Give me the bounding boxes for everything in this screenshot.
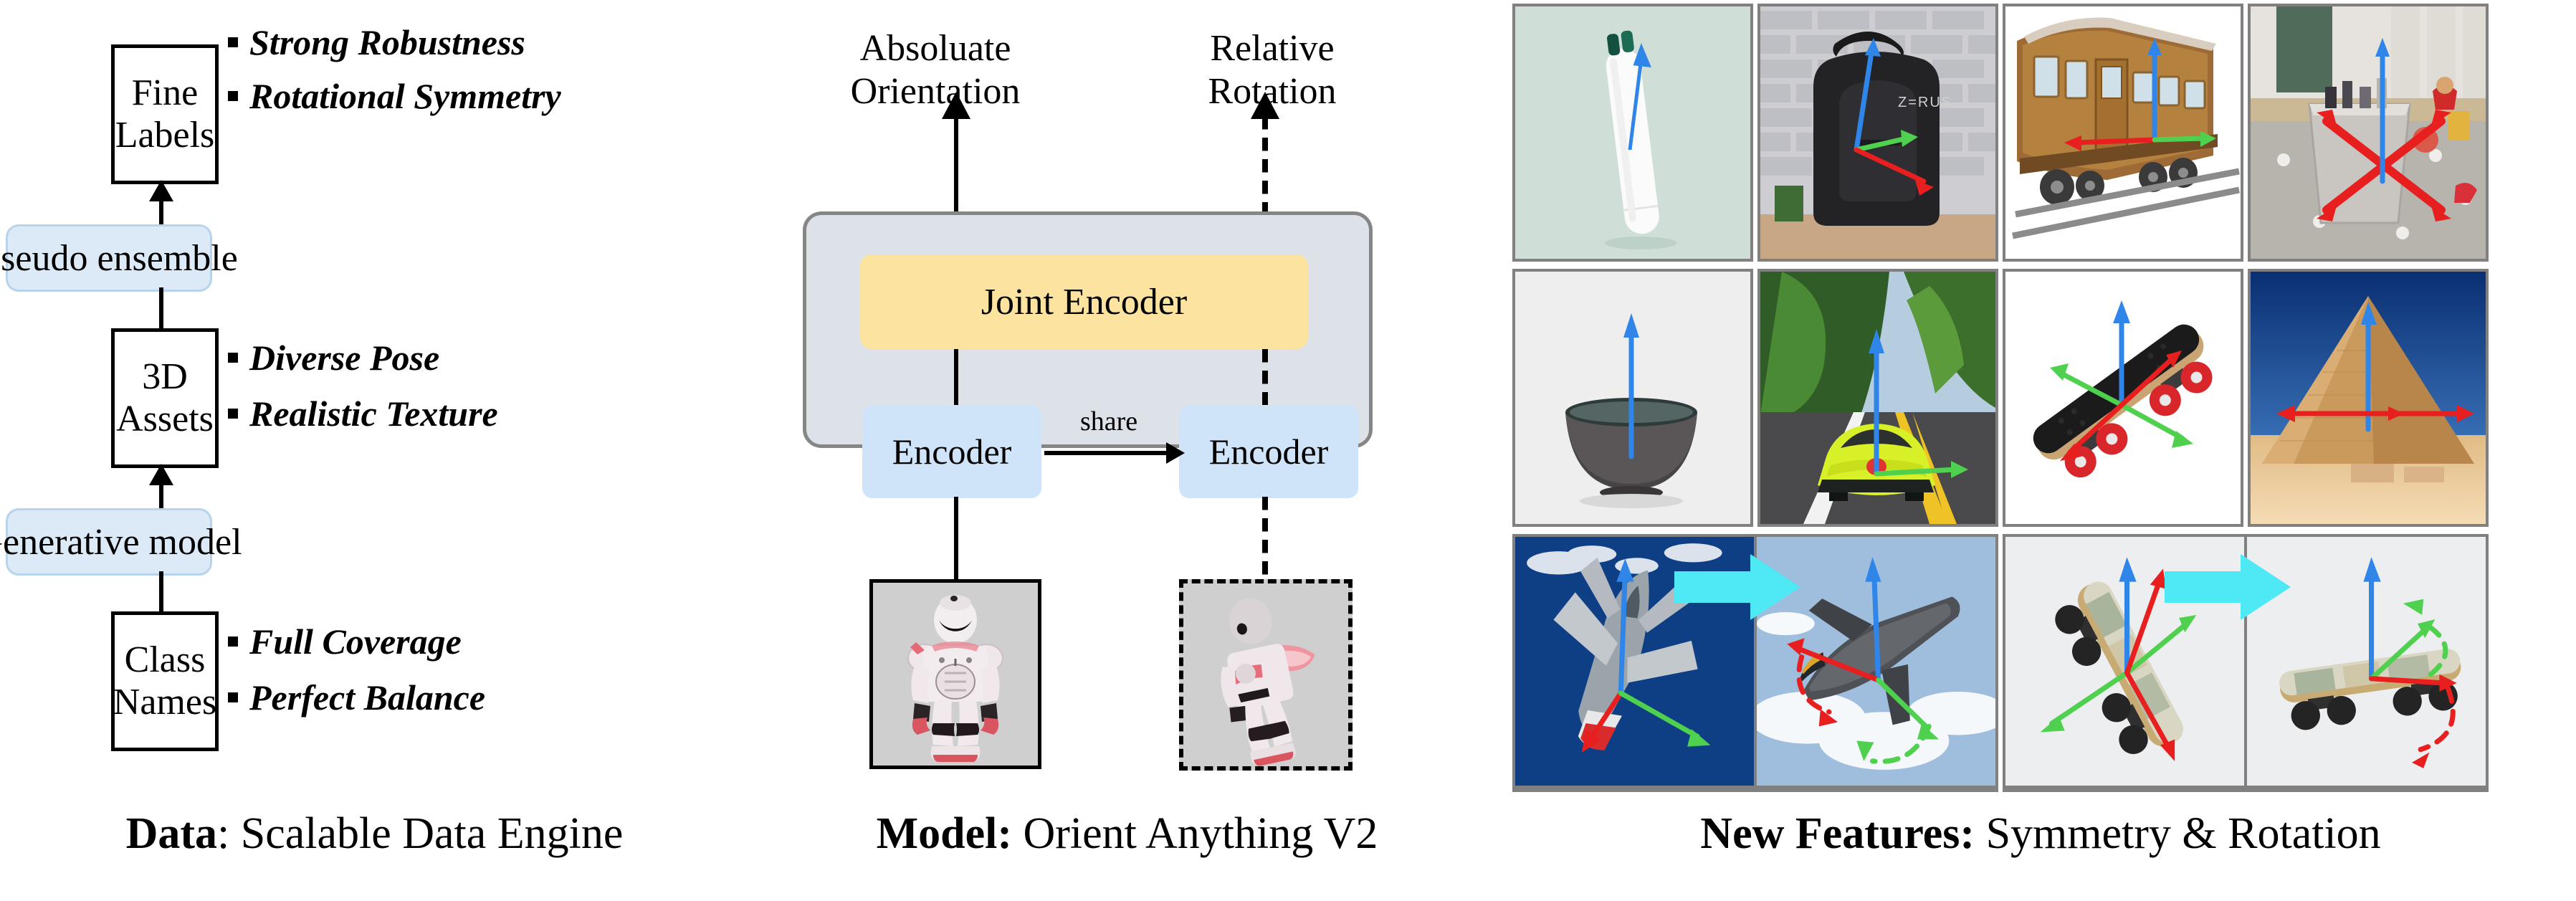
label-relative-rotation-line1: Relative	[1129, 27, 1416, 70]
bullet-realistic-texture: Realistic Texture	[228, 393, 498, 434]
bullet-square-icon	[228, 409, 238, 419]
bullet-square-icon	[228, 692, 238, 702]
box-class-names: Class Names	[111, 611, 219, 751]
feature-cell-skateboard	[2003, 269, 2243, 527]
box-3d-assets-line1: 3D	[142, 356, 188, 398]
svg-text:Z=RUS: Z=RUS	[1898, 95, 1952, 110]
bullet-square-icon	[228, 637, 238, 647]
feature-cell-toy-bin	[2248, 4, 2489, 262]
bullet-diverse-pose: Diverse Pose	[228, 337, 439, 378]
encoder-right-box: Encoder	[1179, 405, 1358, 498]
connector-names-to-generative	[159, 571, 163, 613]
box-class-names-line1: Class	[125, 639, 206, 681]
robot-front-illustration	[873, 583, 1038, 766]
connector-assets-to-pseudo	[159, 287, 163, 330]
box-fine-labels-line1: Fine	[132, 72, 198, 114]
share-arrow-shaft	[1044, 451, 1168, 455]
input-image-robot-rotated	[1179, 579, 1353, 771]
box-fine-labels: Fine Labels	[111, 44, 219, 184]
caption-data-rest: : Scalable Data Engine	[217, 809, 623, 858]
pill-generative-model-label: Generative model	[0, 521, 242, 563]
feature-cell-backpack: Z=RUS	[1757, 4, 1998, 262]
feature-pair-jet	[1512, 534, 1998, 792]
feature-cell-car	[1757, 269, 1998, 527]
toy-bin-image	[2251, 6, 2486, 259]
pyramid-image	[2251, 272, 2486, 524]
caption-model: Model: Orient Anything V2	[749, 809, 1505, 859]
robot-rotated-illustration	[1183, 583, 1348, 766]
caption-model-bold: Model:	[877, 809, 1012, 858]
sports-car-image	[1760, 272, 1995, 524]
share-label: share	[1080, 406, 1137, 437]
arrow-head-absolute-output	[942, 92, 970, 119]
input-image-robot-front	[869, 579, 1041, 769]
arrow-head-relative-output	[1251, 92, 1279, 119]
caption-data-bold: Data	[126, 809, 217, 858]
connector-input-left-to-encoder	[954, 497, 958, 583]
pill-generative-model: Generative model	[6, 508, 212, 576]
panel-new-features: Z=RUS	[1505, 0, 2576, 901]
joint-encoder-box: Joint Encoder	[860, 254, 1308, 349]
transition-arrow-jet	[1674, 553, 1803, 621]
label-absolute-orientation: Absoluate Orientation	[792, 27, 1079, 113]
joint-encoder-label: Joint Encoder	[981, 281, 1187, 323]
feature-cell-train	[2003, 4, 2243, 262]
figure-root: Fine Labels Strong Robustness Rotational…	[0, 0, 2576, 901]
bullet-perfect-balance: Perfect Balance	[228, 677, 485, 718]
bullet-square-icon	[228, 37, 238, 47]
caption-new-features-rest: Symmetry & Rotation	[1975, 809, 2381, 858]
label-absolute-orientation-line1: Absoluate	[792, 27, 1079, 70]
caption-new-features-bold: New Features:	[1700, 809, 1975, 858]
connector-right-encoder-to-joint	[1262, 349, 1268, 406]
feature-pair-skateboard	[2003, 534, 2489, 792]
pill-pseudo-ensemble-label: Pseudo ensemble	[0, 237, 238, 280]
bullet-square-icon	[228, 91, 238, 101]
transition-arrow-skateboard	[2165, 553, 2294, 621]
box-3d-assets: 3D Assets	[111, 328, 219, 468]
encoder-right-label: Encoder	[1209, 431, 1329, 472]
pill-pseudo-ensemble: Pseudo ensemble	[6, 224, 212, 292]
bullet-square-icon	[228, 353, 238, 363]
caption-data: Data: Scalable Data Engine	[0, 809, 749, 859]
bottle-image	[1515, 6, 1750, 259]
bullet-full-coverage: Full Coverage	[228, 621, 462, 662]
box-fine-labels-line2: Labels	[115, 115, 215, 156]
connector-input-right-to-encoder	[1262, 497, 1268, 583]
skateboard-image	[2005, 272, 2241, 524]
box-3d-assets-line2: Assets	[116, 399, 214, 440]
bullet-rotational-symmetry: Rotational Symmetry	[228, 75, 561, 117]
train-image	[2005, 6, 2241, 259]
arrow-head-pseudo-to-fine	[149, 180, 173, 201]
caption-new-features: New Features: Symmetry & Rotation	[1505, 809, 2576, 859]
share-arrow-head	[1166, 442, 1185, 464]
box-class-names-line2: Names	[113, 682, 216, 723]
panel-data: Fine Labels Strong Robustness Rotational…	[0, 0, 749, 901]
encoder-left-box: Encoder	[862, 405, 1041, 498]
feature-cell-bottle	[1512, 4, 1753, 262]
arrow-head-generative-to-assets	[149, 464, 173, 485]
connector-left-encoder-to-joint	[954, 349, 958, 406]
bullet-strong-robustness: Strong Robustness	[228, 22, 525, 63]
label-absolute-orientation-line2: Orientation	[792, 70, 1079, 113]
bowl-image	[1515, 272, 1750, 524]
panel-model: Absoluate Orientation Relative Rotation …	[749, 0, 1505, 901]
feature-cell-bowl	[1512, 269, 1753, 527]
backpack-image: Z=RUS	[1760, 6, 1995, 259]
encoder-left-label: Encoder	[892, 431, 1012, 472]
caption-model-rest: Orient Anything V2	[1012, 809, 1378, 858]
feature-cell-pyramid	[2248, 269, 2489, 527]
